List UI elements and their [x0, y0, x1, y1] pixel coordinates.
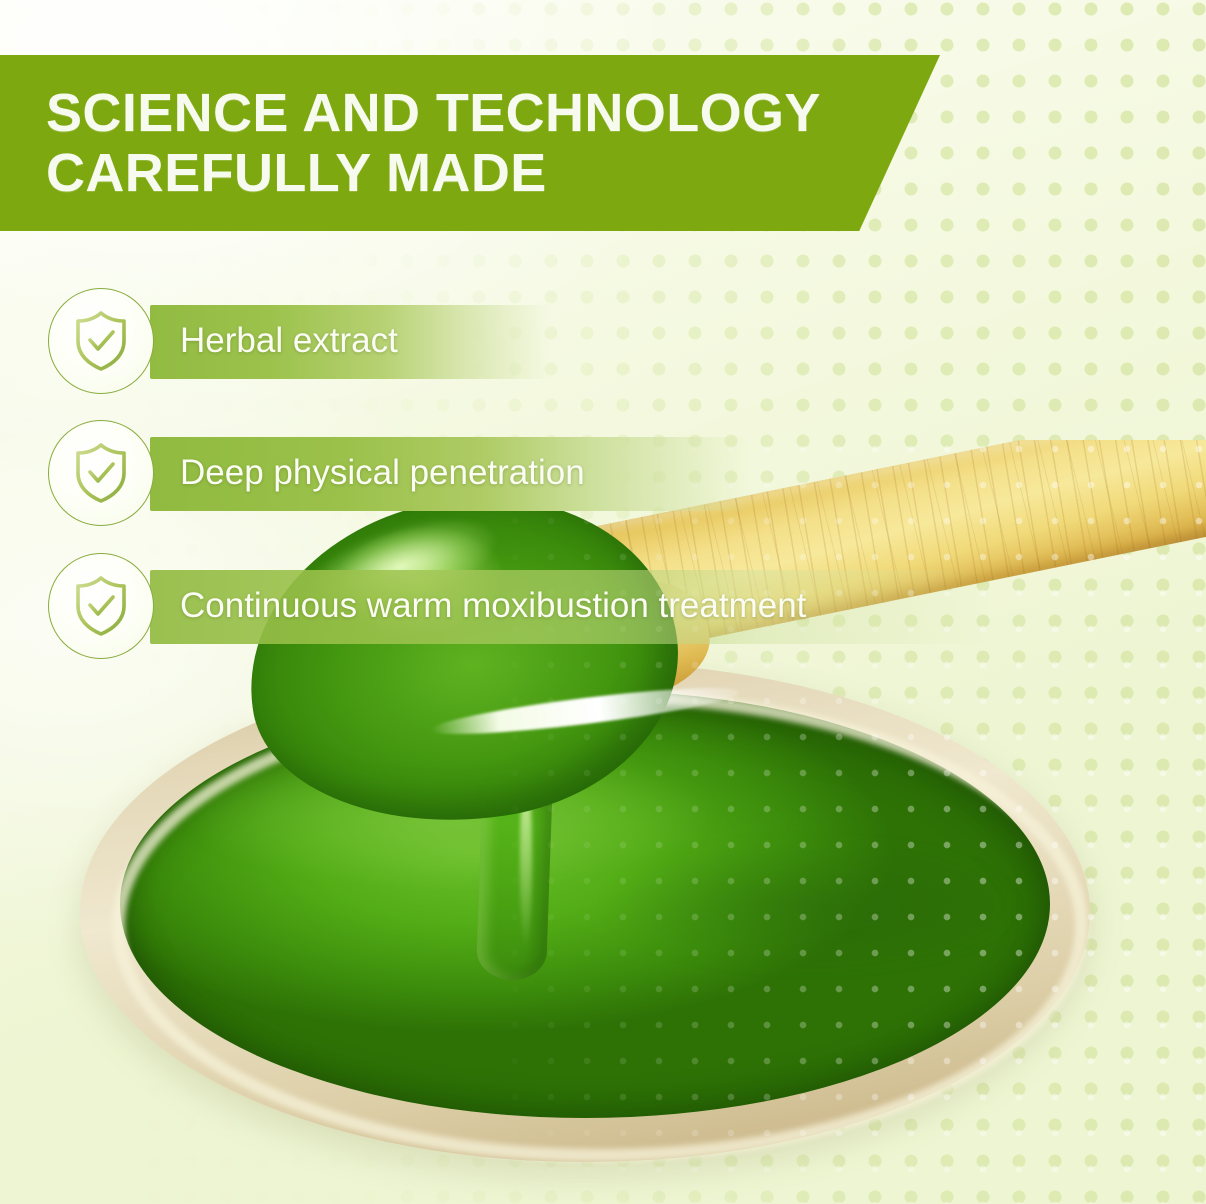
feature-badge [48, 553, 154, 659]
shield-check-icon [72, 310, 130, 372]
feature-label: Herbal extract [180, 321, 398, 361]
headline-text: SCIENCE AND TECHNOLOGY CAREFULLY MADE [0, 83, 821, 204]
feature-label: Deep physical penetration [180, 453, 585, 493]
shield-check-icon [72, 575, 130, 637]
feature-label: Continuous warm moxibustion treatment [180, 586, 806, 626]
feature-item-continuous-warm-moxibustion-treatment[interactable]: Continuous warm moxibustion treatment [48, 553, 806, 659]
feature-item-herbal-extract[interactable]: Herbal extract [48, 288, 398, 394]
headline-banner: SCIENCE AND TECHNOLOGY CAREFULLY MADE [0, 55, 940, 231]
feature-item-deep-physical-penetration[interactable]: Deep physical penetration [48, 420, 585, 526]
promo-poster: SCIENCE AND TECHNOLOGY CAREFULLY MADE [0, 0, 1206, 1204]
shield-check-icon [72, 442, 130, 504]
feature-badge [48, 288, 154, 394]
feature-badge [48, 420, 154, 526]
